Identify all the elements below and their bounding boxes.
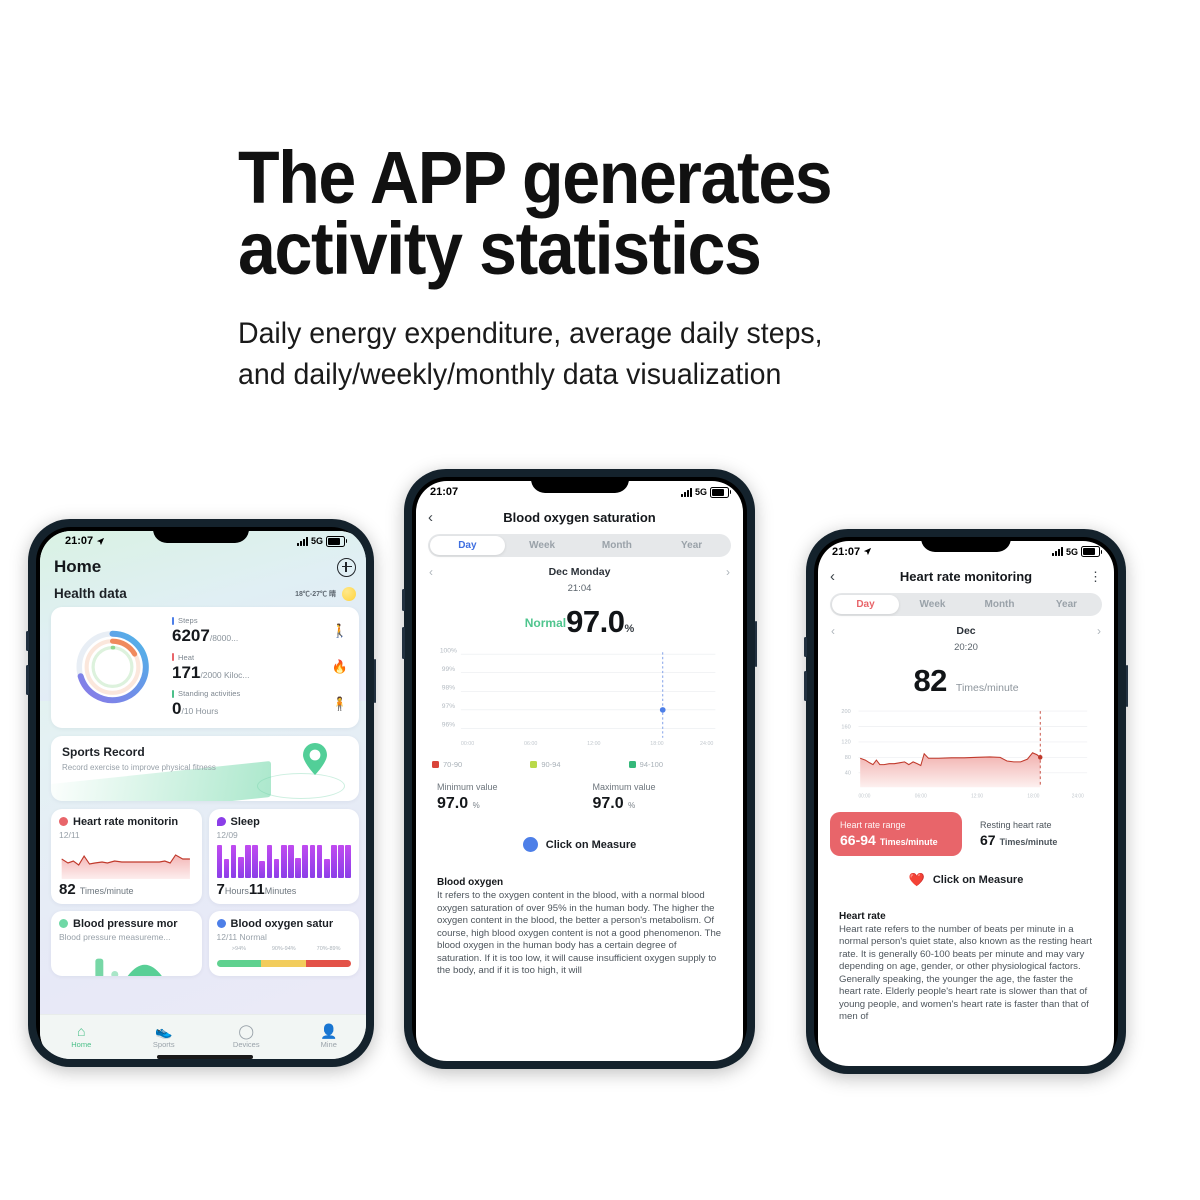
sports-record-title: Sports Record [62, 745, 348, 759]
card-sleep-hours-unit: Hours [225, 886, 249, 896]
bo-label-0: >94% [217, 946, 262, 952]
svg-text:18:00: 18:00 [650, 741, 663, 747]
metric-standing-unit: /10 Hours [181, 706, 218, 716]
spo2-line-chart: 100%99% 98%97%96% 00:0006:00 12:0018:002… [436, 643, 723, 747]
svg-text:24:00: 24:00 [1072, 793, 1084, 799]
card-blood-oxygen-title: Blood oxygen satur [231, 918, 334, 930]
spo2-unit: % [624, 623, 634, 635]
card-sleep-minutes-unit: Minutes [265, 886, 297, 896]
minimum-value-card: Minimum value 97.0 % [428, 775, 576, 820]
card-heart-rate-value: 82 [59, 881, 76, 898]
minimum-value-unit: % [473, 801, 480, 810]
resting-heart-rate-value: 67 [980, 832, 996, 848]
svg-text:97%: 97% [442, 703, 456, 710]
tab-month[interactable]: Month [966, 595, 1033, 614]
weather-text: 18℃-27℃ 晴 [295, 589, 336, 599]
tab-mine-label: Mine [321, 1040, 337, 1049]
legend-item-1: 90-94 [530, 760, 628, 769]
svg-text:00:00: 00:00 [858, 793, 870, 799]
card-heart-rate[interactable]: Heart rate monitorin 12/11 82 Times/minu… [51, 809, 202, 904]
status-time: 21:07 [430, 486, 458, 498]
volume-up-button[interactable] [26, 631, 29, 651]
date-navigator: ‹ Dec › [818, 616, 1114, 640]
signal-bars-icon [297, 537, 308, 546]
bo-label-2: 70%-89% [306, 946, 351, 952]
metric-steps: Steps 6207/8000... 🚶 [172, 616, 349, 646]
tab-week[interactable]: Week [505, 536, 580, 555]
tab-sports-label: Sports [153, 1040, 175, 1049]
hr-unit: Times/minute [956, 682, 1019, 694]
volume-down-button[interactable] [26, 665, 29, 695]
volume-up-button[interactable] [804, 637, 807, 657]
spo2-stat-cards: Minimum value 97.0 % Maximum value 97.0 … [428, 775, 731, 820]
health-data-title: Health data [54, 586, 127, 601]
hr-value: 82 [913, 663, 946, 698]
heart-measure-icon: ❤️ [909, 873, 925, 886]
metric-steps-label: Steps [178, 616, 198, 625]
svg-text:200: 200 [841, 709, 850, 715]
battery-icon [326, 536, 345, 547]
heart-rate-range-value: 66-94 [840, 832, 876, 848]
heart-rate-range-label: Heart rate range [840, 820, 952, 830]
maximum-value-label: Maximum value [593, 782, 723, 793]
reading-time: 20:20 [818, 640, 1114, 653]
home-content: 21:07 5G Home Healt [40, 531, 366, 976]
person-icon: 👤 [288, 1024, 367, 1038]
sun-icon [342, 587, 356, 601]
heart-rate-range-card: Heart rate range 66-94Times/minute [830, 812, 962, 856]
article-body: It refers to the oxygen content in the b… [437, 890, 722, 977]
home-title: Home [54, 557, 101, 577]
metric-standing-label: Standing activities [178, 689, 240, 698]
resting-heart-rate-card: Resting heart rate 67Times/minute [970, 812, 1102, 856]
home-icon: ⌂ [40, 1024, 123, 1038]
svg-text:98%: 98% [442, 685, 456, 692]
network-label: 5G [1066, 547, 1078, 557]
measure-button[interactable]: ❤️ Click on Measure [830, 865, 1102, 894]
home-header: Home [51, 551, 359, 577]
battery-icon [1081, 546, 1100, 557]
measure-label: Click on Measure [546, 839, 636, 851]
metric-steps-unit: /8000... [210, 633, 238, 643]
standing-icon: 🧍 [331, 696, 349, 712]
signal-bars-icon [681, 488, 692, 497]
card-sleep-hours: 7 [217, 881, 225, 898]
metrics-list: Steps 6207/8000... 🚶 Heat 171/2000 Kiloc… [170, 616, 349, 719]
hr-article: Heart rate Heart rate refers to the numb… [830, 903, 1102, 1024]
nav-bar: ‹ Heart rate monitoring ⋮ [818, 562, 1114, 592]
phone-spo2-glass: 21:07 5G ‹ Blood oxygen saturation Day W… [412, 477, 747, 1061]
signal-bars-icon [1052, 547, 1063, 556]
svg-text:12:00: 12:00 [587, 741, 600, 747]
svg-text:120: 120 [841, 740, 850, 746]
svg-text:80: 80 [845, 755, 851, 761]
blood-oxygen-bar-labels: >94% 90%-94% 70%-89% [217, 946, 352, 952]
spo2-status-label: Normal [525, 616, 566, 630]
svg-text:96%: 96% [442, 722, 456, 729]
metric-heat-value: 171 [172, 663, 200, 682]
volume-down-button[interactable] [402, 627, 405, 659]
sports-record-card[interactable]: Sports Record Record exercise to improve… [51, 736, 359, 801]
phone-hr-glass: 21:07 5G ‹ Heart rate monitoring ⋮ Day [814, 537, 1118, 1066]
notch [531, 477, 629, 493]
svg-text:06:00: 06:00 [524, 741, 537, 747]
maximum-value: 97.0 [593, 795, 624, 812]
tab-home[interactable]: ⌂Home [40, 1024, 123, 1049]
heart-rate-range-unit: Times/minute [880, 837, 938, 847]
promo-page: The APP generates activity statistics Da… [0, 0, 1200, 1200]
next-date-icon[interactable]: › [1097, 624, 1101, 638]
back-icon[interactable]: ‹ [428, 510, 446, 525]
volume-up-button[interactable] [402, 589, 405, 611]
card-sleep[interactable]: Sleep 12/09 7Hours11Minutes [209, 809, 360, 904]
subtitle-line-2: and daily/weekly/monthly data visualizat… [238, 358, 781, 391]
tab-week[interactable]: Week [899, 595, 966, 614]
bo-label-1: 90%-94% [261, 946, 306, 952]
hr-area-chart: 200160 1208040 00:0006:00 12:0018:0024:0… [838, 702, 1094, 800]
svg-text:00:00: 00:00 [461, 741, 474, 747]
network-label: 5G [695, 487, 707, 497]
spo2-reading: Normal97.0% [436, 604, 723, 640]
resting-heart-rate-label: Resting heart rate [980, 820, 1092, 830]
card-blood-pressure[interactable]: Blood pressure mor Blood pressure measur… [51, 911, 202, 976]
card-heart-rate-title: Heart rate monitorin [73, 816, 178, 828]
svg-text:24:00: 24:00 [700, 741, 713, 747]
sports-record-desc: Record exercise to improve physical fitn… [62, 763, 348, 772]
phone-hr-screen: 21:07 5G ‹ Heart rate monitoring ⋮ Day [818, 541, 1114, 1066]
tab-devices-label: Devices [233, 1040, 260, 1049]
power-button[interactable] [755, 621, 758, 667]
location-arrow-icon [96, 537, 105, 546]
add-icon[interactable] [337, 558, 356, 577]
headline-block: The APP generates activity statistics Da… [238, 142, 998, 396]
notch [153, 527, 249, 543]
health-summary-card[interactable]: Steps 6207/8000... 🚶 Heat 171/2000 Kiloc… [51, 607, 359, 728]
tab-devices[interactable]: ◯Devices [205, 1024, 288, 1049]
sleep-stage-chart [217, 845, 352, 878]
period-segmented-control: Day Week Month Year [428, 534, 731, 557]
tab-year[interactable]: Year [1033, 595, 1100, 614]
minimum-value-label: Minimum value [437, 782, 567, 793]
nav-bar: ‹ Blood oxygen saturation [416, 503, 743, 533]
svg-text:40: 40 [845, 770, 851, 776]
hr-reading: 82Times/minute [838, 663, 1094, 699]
health-data-header: Health data 18℃-27℃ 晴 [51, 577, 359, 607]
more-icon[interactable]: ⋮ [1084, 570, 1102, 583]
spo2-legend: 70-90 90-94 94-100 [416, 753, 743, 773]
card-sleep-title: Sleep [231, 816, 260, 828]
svg-text:100%: 100% [440, 647, 457, 654]
svg-text:06:00: 06:00 [915, 793, 927, 799]
tab-day[interactable]: Day [832, 595, 899, 614]
home-indicator [157, 1055, 253, 1059]
card-sleep-minutes: 11 [249, 881, 265, 898]
legend-label-1: 90-94 [541, 760, 560, 769]
droplet-icon [59, 919, 68, 928]
network-label: 5G [311, 536, 323, 546]
maximum-value-card: Maximum value 97.0 % [584, 775, 732, 820]
tab-mine[interactable]: 👤Mine [288, 1024, 367, 1049]
minimum-value: 97.0 [437, 795, 468, 812]
location-arrow-icon [863, 547, 872, 556]
moon-icon [217, 817, 226, 826]
phone-home-glass: 21:07 5G Home Healt [36, 527, 366, 1059]
svg-text:18:00: 18:00 [1027, 793, 1039, 799]
page-title: Heart rate monitoring [848, 569, 1084, 584]
metric-heat: Heat 171/2000 Kiloc... 🔥 [172, 653, 349, 683]
svg-text:12:00: 12:00 [971, 793, 983, 799]
back-icon[interactable]: ‹ [830, 569, 848, 584]
walking-icon: 🚶 [331, 623, 349, 639]
measure-label: Click on Measure [933, 874, 1023, 886]
tab-day[interactable]: Day [430, 536, 505, 555]
maximum-value-unit: % [628, 801, 635, 810]
phone-home-screen: 21:07 5G Home Healt [40, 531, 366, 1059]
article-heading: Blood oxygen [437, 877, 722, 888]
spo2-article: Blood oxygen It refers to the oxygen con… [428, 869, 731, 977]
current-date-label: Dec [835, 625, 1097, 637]
battery-icon [710, 487, 729, 498]
legend-item-2: 94-100 [629, 760, 727, 769]
resting-heart-rate-unit: Times/minute [1000, 837, 1058, 847]
oxygen-measure-icon [523, 837, 538, 852]
oxygen-icon [217, 919, 226, 928]
legend-label-0: 70-90 [443, 760, 462, 769]
home-card-grid: Heart rate monitorin 12/11 82 Times/minu… [51, 809, 359, 976]
power-button[interactable] [374, 659, 377, 703]
metric-standing: Standing activities 0/10 Hours 🧍 [172, 689, 349, 719]
hr-stat-cards: Heart rate range 66-94Times/minute Resti… [830, 812, 1102, 856]
headline-line-2: activity statistics [238, 207, 760, 290]
volume-down-button[interactable] [804, 671, 807, 701]
metric-steps-value: 6207 [172, 626, 210, 645]
activity-rings-chart [61, 619, 164, 715]
article-body: Heart rate refers to the number of beats… [839, 924, 1093, 1024]
card-blood-oxygen[interactable]: Blood oxygen satur 12/11 Normal >94% 90%… [209, 911, 360, 976]
next-date-icon[interactable]: › [726, 565, 730, 579]
metric-heat-label: Heat [178, 653, 194, 662]
phone-spo2-screen: 21:07 5G ‹ Blood oxygen saturation Day W… [416, 481, 743, 1061]
card-heart-rate-unit: Times/minute [80, 886, 134, 896]
bottom-tab-bar: ⌂Home 👟Sports ◯Devices 👤Mine [40, 1014, 366, 1059]
tab-year[interactable]: Year [654, 536, 729, 555]
watch-icon: ◯ [205, 1024, 288, 1038]
card-blood-pressure-title: Blood pressure mor [73, 918, 178, 930]
subtitle-line-1: Daily energy expenditure, average daily … [238, 317, 823, 350]
legend-label-2: 94-100 [640, 760, 663, 769]
status-time: 21:07 [832, 546, 860, 558]
heart-rate-sparkline [59, 845, 194, 878]
notch [921, 537, 1011, 552]
heart-icon [59, 817, 68, 826]
phone-heart-rate: 21:07 5G ‹ Heart rate monitoring ⋮ Day [806, 529, 1126, 1074]
headline-subtitle: Daily energy expenditure, average daily … [238, 314, 960, 396]
page-title: Blood oxygen saturation [446, 510, 713, 525]
spo2-value: 97.0 [566, 604, 624, 639]
metric-heat-unit: /2000 Kiloc... [200, 670, 249, 680]
card-blood-oxygen-status: 12/11 Normal [217, 932, 352, 942]
legend-item-0: 70-90 [432, 760, 530, 769]
card-heart-rate-date: 12/11 [59, 830, 194, 840]
power-button[interactable] [1126, 665, 1129, 707]
phone-home: 21:07 5G Home Healt [28, 519, 374, 1067]
period-segmented-control: Day Week Month Year [830, 593, 1102, 616]
blood-pressure-illustration [59, 948, 194, 976]
weather-info: 18℃-27℃ 晴 [295, 587, 356, 601]
reading-time: 21:04 [416, 581, 743, 594]
article-heading: Heart rate [839, 911, 1093, 922]
tab-home-label: Home [71, 1040, 91, 1049]
date-navigator: ‹ Dec Monday › [416, 557, 743, 581]
svg-text:160: 160 [841, 724, 850, 730]
status-time: 21:07 [65, 535, 93, 547]
measure-button[interactable]: Click on Measure [428, 829, 731, 860]
card-sleep-date: 12/09 [217, 830, 352, 840]
flame-icon: 🔥 [331, 659, 349, 675]
current-date-label: Dec Monday [433, 566, 726, 578]
blood-oxygen-range-bar [217, 960, 352, 967]
page-title: The APP generates activity statistics [238, 142, 937, 284]
shoe-icon: 👟 [123, 1024, 206, 1038]
spo2-chart-panel: Normal97.0% 100%99% 98%97%96% [428, 598, 731, 753]
tab-sports[interactable]: 👟Sports [123, 1024, 206, 1049]
svg-text:99%: 99% [442, 666, 456, 673]
card-blood-pressure-desc: Blood pressure measureme... [59, 932, 194, 942]
hr-chart-panel: 82Times/minute [830, 657, 1102, 806]
tab-month[interactable]: Month [580, 536, 655, 555]
phone-blood-oxygen: 21:07 5G ‹ Blood oxygen saturation Day W… [404, 469, 755, 1069]
